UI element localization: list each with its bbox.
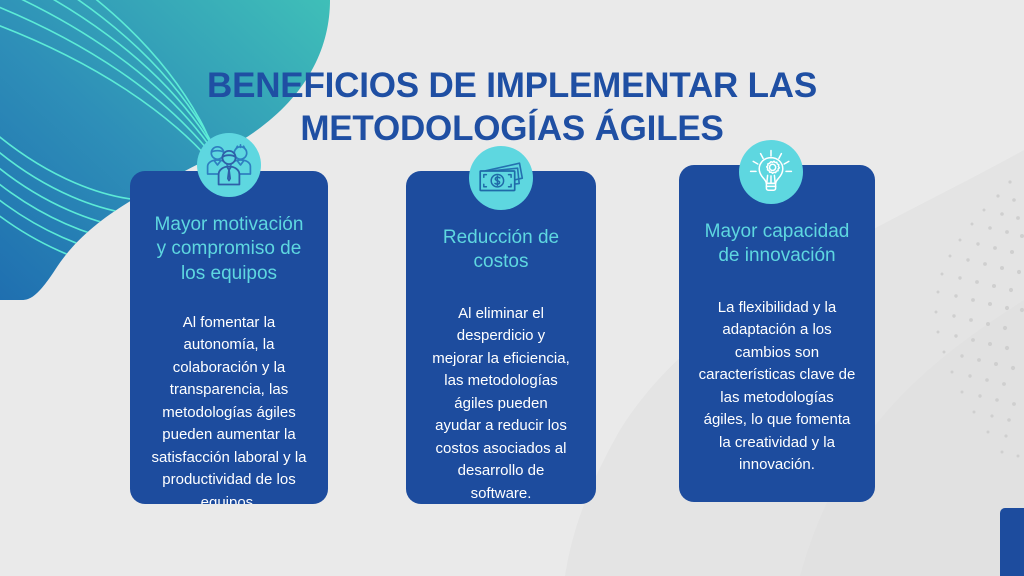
slide-canvas: BENEFICIOS DE IMPLEMENTAR LAS METODOLOGÍ…	[0, 0, 1024, 576]
benefit-card-heading: Reducción de costos	[424, 226, 578, 275]
team-people-icon	[197, 133, 261, 197]
benefit-card-team-motivation: Mayor motivación y compromiso de los equ…	[130, 171, 328, 504]
page-title: BENEFICIOS DE IMPLEMENTAR LAS METODOLOGÍ…	[0, 65, 1024, 150]
benefit-card-heading: Mayor capacidad de innovación	[697, 220, 857, 269]
lightbulb-gear-icon	[739, 140, 803, 204]
bottom-right-bar	[1000, 508, 1024, 576]
benefit-card-body: Al eliminar el desperdicio y mejorar la …	[424, 303, 578, 504]
benefit-card-innovation: Mayor capacidad de innovación La flexibi…	[679, 165, 875, 502]
halftone-dots-icon	[914, 170, 1024, 500]
benefit-card-body: Al fomentar la autonomía, la colaboració…	[148, 312, 310, 504]
money-banknotes-icon	[469, 146, 533, 210]
benefit-card-body: La flexibilidad y la adaptación a los ca…	[697, 297, 857, 477]
benefit-card-heading: Mayor motivación y compromiso de los equ…	[148, 213, 310, 286]
benefit-card-cost-reduction: Reducción de costos Al eliminar el despe…	[406, 171, 596, 504]
page-title-line-1: BENEFICIOS DE IMPLEMENTAR LAS	[150, 65, 874, 108]
